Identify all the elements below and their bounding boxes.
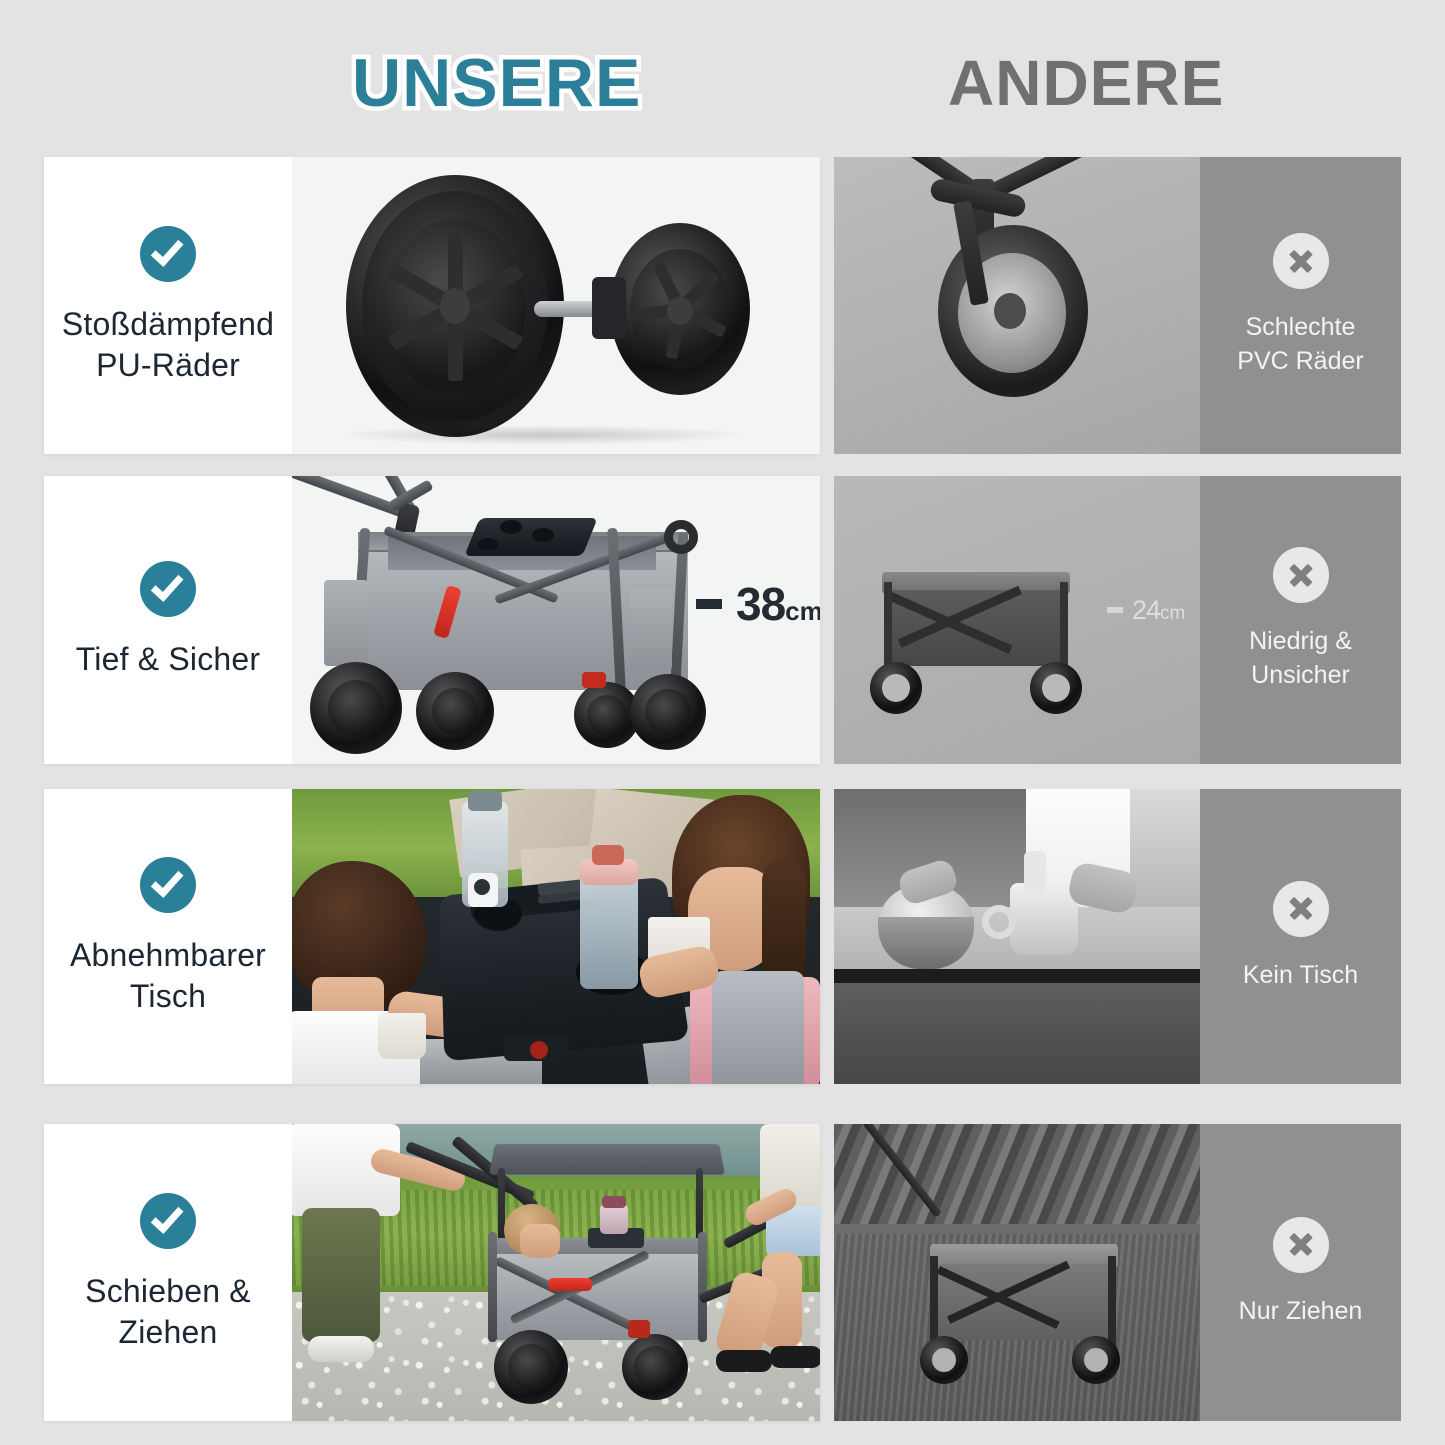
ours-label-card-4: Schieben & Ziehen [44, 1124, 292, 1421]
ours-label-card-3: Abnehmbarer Tisch [44, 789, 292, 1084]
ours-label-1: Stoßdämpfend PU-Räder [62, 304, 274, 386]
pu-wheels-pair-photo [292, 157, 820, 454]
pvc-wheel-closeup-photo [834, 157, 1200, 454]
header-row: UNSERE ANDERE [0, 0, 1445, 148]
ours-block-2: Tief & Sicher [44, 476, 820, 764]
others-label-1: Schlechte PVC Räder [1237, 311, 1363, 379]
shallow-wagon-side-photo: 24cm [834, 476, 1200, 764]
ours-label-4: Schieben & Ziehen [85, 1271, 251, 1353]
others-block-1: Schlechte PVC Räder [834, 157, 1401, 454]
others-block-4: Nur Ziehen [834, 1124, 1401, 1421]
ours-block-4: Schieben & Ziehen [44, 1124, 820, 1421]
x-circle-icon [1273, 233, 1329, 289]
family-pushing-pulling-wagon-photo [292, 1124, 820, 1421]
ours-label-2: Tief & Sicher [76, 639, 261, 680]
kids-at-removable-table-photo [292, 789, 820, 1084]
others-label-4: Nur Ziehen [1239, 1295, 1363, 1329]
check-circle-icon [140, 561, 196, 617]
x-circle-icon [1273, 547, 1329, 603]
ours-heading: UNSERE [352, 44, 641, 122]
ours-block-1: Stoßdämpfend PU-Räder [44, 157, 820, 454]
deep-wagon-side-photo: 38cm [292, 476, 820, 764]
others-label-3: Kein Tisch [1243, 959, 1358, 993]
hands-holding-tin-and-cup-photo [834, 789, 1200, 1084]
others-block-3: Kein Tisch [834, 789, 1401, 1084]
others-label-2: Niedrig & Unsicher [1249, 625, 1352, 693]
comparison-row-push-pull: Schieben & Ziehen [0, 1124, 1445, 1421]
comparison-row-depth: Tief & Sicher [0, 476, 1445, 764]
ours-label-card-2: Tief & Sicher [44, 476, 292, 764]
others-block-2: 24cm Niedrig & Unsicher [834, 476, 1401, 764]
ours-label-card-1: Stoßdämpfend PU-Räder [44, 157, 292, 454]
x-circle-icon [1273, 1217, 1329, 1273]
comparison-row-table: Abnehmbarer Tisch [0, 789, 1445, 1084]
others-label-panel-1: Schlechte PVC Räder [1200, 157, 1401, 454]
ours-block-3: Abnehmbarer Tisch [44, 789, 820, 1084]
comparison-row-wheels: Stoßdämpfend PU-Räder [0, 157, 1445, 454]
height-callout-24cm: 24cm [1107, 568, 1185, 652]
x-circle-icon [1273, 881, 1329, 937]
height-callout-38cm: 38cm [696, 528, 820, 680]
check-circle-icon [140, 226, 196, 282]
others-label-panel-3: Kein Tisch [1200, 789, 1401, 1084]
ours-label-3: Abnehmbarer Tisch [70, 935, 266, 1017]
check-circle-icon [140, 1193, 196, 1249]
check-circle-icon [140, 857, 196, 913]
others-label-panel-4: Nur Ziehen [1200, 1124, 1401, 1421]
others-heading: ANDERE [948, 46, 1224, 120]
comparison-infographic: UNSERE ANDERE Stoßdämpfend PU-Räder [0, 0, 1445, 1445]
wagon-pulled-on-lawn-photo [834, 1124, 1200, 1421]
others-label-panel-2: Niedrig & Unsicher [1200, 476, 1401, 764]
